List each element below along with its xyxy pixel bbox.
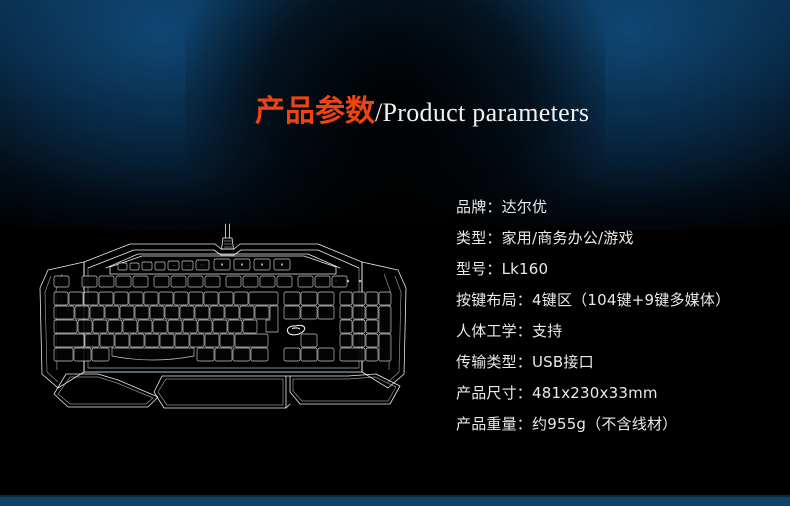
brand-logo-dareu (287, 325, 304, 334)
spec-row-connection-type: 传输类型：USB接口 (456, 347, 776, 378)
bottom-band (0, 497, 790, 506)
product-parameters-page: 产品参数/Product parameters 品牌：达尔优 类型：家用/商务办… (0, 0, 790, 506)
page-title-chinese: 产品参数 (255, 94, 375, 129)
keyboard-shift-row (54, 334, 378, 347)
spec-row-ergonomics: 人体工学：支持 (456, 316, 776, 347)
spec-row-weight: 产品重量：约955g（不含线材） (456, 409, 776, 440)
spec-row-brand: 品牌：达尔优 (456, 192, 776, 223)
keyboard-under-glow (84, 368, 362, 372)
keyboard-cable (222, 224, 234, 249)
spec-list: 品牌：达尔优 类型：家用/商务办公/游戏 型号：Lk160 按键布局：4键区（1… (456, 192, 776, 440)
keyboard-number-row (54, 292, 391, 305)
spec-row-key-layout: 按键布局：4键区（104键+9键多媒体） (456, 285, 776, 316)
spec-row-type: 类型：家用/商务办公/游戏 (456, 223, 776, 254)
keyboard-wrist-rest (54, 374, 400, 408)
keyboard-media-strip (110, 256, 336, 274)
page-title-english: /Product parameters (375, 98, 589, 127)
keyboard-wireframe-svg (18, 222, 428, 437)
spec-row-dimensions: 产品尺寸：481x230x33mm (456, 378, 776, 409)
spec-row-model: 型号：Lk160 (456, 254, 776, 285)
keyboard-home-row (54, 320, 378, 333)
keyboard-function-row (54, 276, 347, 287)
product-image-keyboard (18, 222, 428, 437)
page-title: 产品参数/Product parameters (255, 97, 589, 127)
